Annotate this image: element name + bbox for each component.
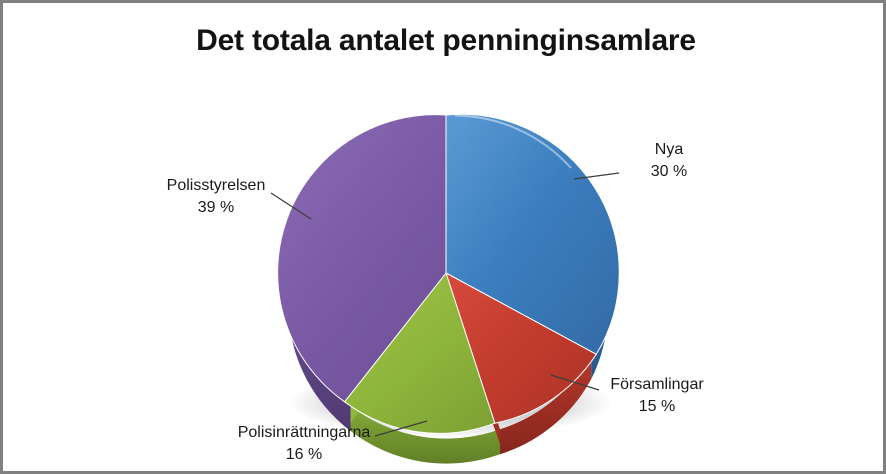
- pie-chart-svg: [3, 3, 886, 474]
- data-label-polisstyrelsen: Polisstyrelsen 39 %: [155, 175, 277, 219]
- data-label-polisinrattningarna: Polisinrättningarna 16 %: [225, 422, 383, 466]
- data-label-nya-value: 30 %: [621, 161, 717, 183]
- data-label-nya-name: Nya: [621, 139, 717, 161]
- data-label-polisinrattningarna-name: Polisinrättningarna: [225, 422, 383, 444]
- data-label-forsamlingar: Församlingar 15 %: [599, 374, 715, 418]
- data-label-polisinrattningarna-value: 16 %: [225, 444, 383, 466]
- data-label-polisstyrelsen-value: 39 %: [155, 197, 277, 219]
- data-label-forsamlingar-name: Församlingar: [599, 374, 715, 396]
- data-label-nya: Nya 30 %: [621, 139, 717, 183]
- pie-chart: Nya 30 % Församlingar 15 % Polisinrättni…: [3, 3, 886, 474]
- chart-container: Det totala antalet penninginsamlare: [0, 0, 886, 474]
- data-label-forsamlingar-value: 15 %: [599, 396, 715, 418]
- data-label-polisstyrelsen-name: Polisstyrelsen: [155, 175, 277, 197]
